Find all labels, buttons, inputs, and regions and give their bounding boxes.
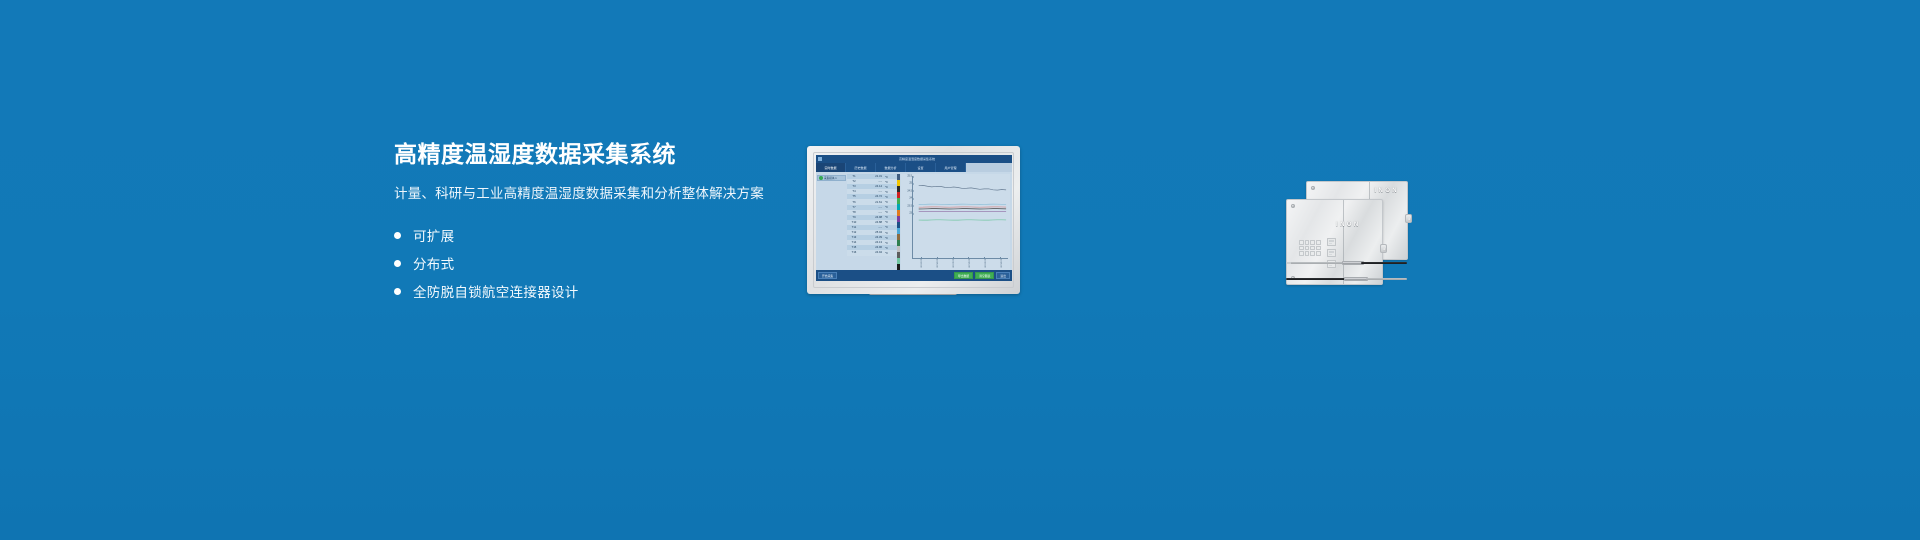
chart-y-tick: 24.5 (902, 189, 912, 192)
tab-realtime-data[interactable]: 实时数据 (816, 163, 846, 172)
probe-shaft (1286, 262, 1344, 264)
cell-unit: ℃ (885, 180, 894, 184)
cell-value: 24.14 (861, 185, 885, 188)
cell-unit: ℃ (885, 246, 894, 250)
cell-channel: T13 (847, 236, 861, 239)
probe-shaft (1366, 278, 1407, 280)
tab-settings[interactable]: 设置 (906, 163, 936, 172)
cell-channel: T16 (847, 251, 861, 254)
page-title: 高精度温湿度数据采集系统 (394, 140, 794, 168)
chart-y-tick: 24 (902, 197, 912, 200)
cell-channel: T7 (847, 206, 861, 209)
list-item: 全防脱自锁航空连接器设计 (394, 278, 794, 304)
cell-unit: ℃ (885, 195, 894, 199)
app-titlebar: 高精度温湿度数据采集系统 (816, 155, 1012, 163)
cell-channel: T5 (847, 195, 861, 198)
table-row: T16 24.94 ℃ (847, 250, 897, 255)
terminal-cell (1299, 240, 1304, 245)
chart-x-tick: 10:15:00 (967, 259, 969, 268)
dot-bullet-icon (394, 260, 401, 267)
panel-pc: 高精度温湿度数据采集系统 实时数据 历史数据 数据分析 设置 用户管理 采集模块… (807, 146, 1020, 294)
cell-unit: ℃ (885, 241, 894, 245)
terminal-cell (1310, 251, 1315, 256)
cell-channel: T12 (847, 231, 861, 234)
list-item: 分布式 (394, 250, 794, 276)
cell-channel: T1 (847, 175, 861, 178)
app-window-title: 高精度温湿度数据采集系统 (824, 157, 1010, 161)
cell-value: 21.31 (861, 175, 885, 178)
dot-bullet-icon (394, 232, 401, 239)
chart-plot-area: 25.52524.52423.52310:00:0010:05:0010:10:… (912, 176, 1008, 259)
terminal-cell (1316, 251, 1321, 256)
terminal-cell (1305, 246, 1310, 251)
chart-y-tick: 25 (902, 182, 912, 185)
cell-unit: ℃ (885, 231, 894, 235)
cell-value: 24.88 (861, 221, 885, 224)
cell-unit: ℃ (885, 215, 894, 219)
banner-subtitle: 计量、科研与工业高精度温湿度数据采集和分析整体解决方案 (394, 185, 794, 203)
exit-button[interactable]: 退出 (996, 272, 1010, 279)
cell-unit: ℃ (885, 251, 894, 255)
temperature-probe-bottom (1286, 277, 1407, 281)
cell-channel: T4 (847, 190, 861, 193)
clear-chart-button[interactable]: 清空图表 (975, 272, 994, 279)
channel-color-legend (897, 174, 900, 270)
chart-y-tick: 23 (902, 212, 912, 215)
module-seam (1343, 200, 1344, 284)
chart-x-tick: 10:20:00 (983, 259, 985, 268)
dot-bullet-icon (394, 288, 401, 295)
banner-copy: 高精度温湿度数据采集系统 计量、科研与工业高精度温湿度数据采集和分析整体解决方案… (394, 140, 794, 306)
cell-value: ---- (861, 226, 885, 229)
tab-user-management[interactable]: 用户管理 (936, 163, 966, 172)
cell-value: 25.04 (861, 231, 885, 234)
app-footer: 开始采集 导出数据 清空图表 退出 (816, 270, 1012, 281)
aviation-connector (1405, 214, 1412, 223)
start-acquisition-button[interactable]: 开始采集 (818, 272, 837, 279)
terminal-cell (1299, 246, 1304, 251)
tree-item-label: 采集模块-1 (824, 176, 837, 180)
cell-channel: T10 (847, 221, 861, 224)
software-screen: 高精度温湿度数据采集系统 实时数据 历史数据 数据分析 设置 用户管理 采集模块… (816, 155, 1012, 281)
acquisition-module-front: INON (1286, 199, 1383, 285)
cell-channel: T3 (847, 185, 861, 188)
cell-channel: T2 (847, 180, 861, 183)
cell-unit: ℃ (885, 190, 894, 194)
aviation-connector (1380, 244, 1387, 253)
feature-label: 全防脱自锁航空连接器设计 (413, 281, 579, 301)
cell-channel: T6 (847, 201, 861, 204)
chart-x-tick: 10:25:00 (999, 259, 1001, 268)
probe-cable (1286, 278, 1348, 280)
channel-table[interactable]: T1 21.31 ℃ T2 ---- ℃ T3 24.14 ℃ (847, 172, 897, 270)
chart-series-line (919, 185, 1006, 190)
chart-series-group (913, 176, 1008, 258)
terminal-block-grid (1299, 240, 1321, 256)
port-icon (1327, 238, 1336, 246)
tree-item-module-1[interactable]: 采集模块-1 (817, 175, 846, 181)
app-window-icon (818, 157, 822, 161)
cell-value: ---- (861, 190, 885, 193)
probe-cable (1361, 262, 1407, 264)
temperature-probe-top (1286, 261, 1407, 265)
port-icon (1327, 249, 1336, 257)
terminal-cell (1310, 246, 1315, 251)
cell-value: 24.94 (861, 251, 885, 254)
tab-history-data[interactable]: 历史数据 (846, 163, 876, 172)
chart-y-tick: 23.5 (902, 204, 912, 207)
terminal-cell (1310, 240, 1315, 245)
chart-x-tick: 10:05:00 (936, 259, 938, 268)
screw-icon (1311, 186, 1315, 190)
cell-value: 24.39 (861, 236, 885, 239)
chart-y-tick: 25.5 (902, 175, 912, 178)
terminal-cell (1316, 246, 1321, 251)
cell-value: ---- (861, 211, 885, 214)
cell-channel: T8 (847, 211, 861, 214)
cell-value: ---- (861, 180, 885, 183)
cell-unit: ℃ (885, 185, 894, 189)
cell-channel: T14 (847, 241, 861, 244)
cell-channel: T9 (847, 216, 861, 219)
tab-bar: 实时数据 历史数据 数据分析 设置 用户管理 (816, 163, 1012, 172)
brand-logo: INON (1374, 188, 1399, 194)
cell-channel: T15 (847, 246, 861, 249)
cell-unit: ℃ (885, 236, 894, 240)
online-status-icon (819, 176, 823, 180)
app-body: 采集模块-1 T1 21.31 ℃ T2 ---- ℃ (816, 172, 1012, 270)
tab-data-analysis[interactable]: 数据分析 (876, 163, 906, 172)
tab-bar-filler (966, 163, 1012, 172)
chart-x-tick: 10:00:00 (920, 259, 922, 268)
cell-channel: T11 (847, 226, 861, 229)
cell-value: 21.61 (861, 201, 885, 204)
feature-label: 分布式 (413, 253, 454, 273)
probe-tip (1286, 262, 1291, 264)
terminal-cell (1299, 251, 1304, 256)
cell-value: 24.96 (861, 246, 885, 249)
cell-unit: ℃ (885, 175, 894, 179)
cell-unit: ℃ (885, 220, 894, 224)
cell-value: 24.98 (861, 216, 885, 219)
cell-unit: ℃ (885, 210, 894, 214)
cell-unit: ℃ (885, 200, 894, 204)
cell-value: 24.72 (861, 195, 885, 198)
probe-body (1344, 277, 1368, 281)
list-item: 可扩展 (394, 222, 794, 248)
terminal-cell (1305, 240, 1310, 245)
cell-value: ---- (861, 206, 885, 209)
brand-logo: INON (1336, 222, 1361, 228)
device-tree: 采集模块-1 (816, 172, 847, 270)
product-banner: 高精度温湿度数据采集系统 计量、科研与工业高精度温湿度数据采集和分析整体解决方案… (0, 0, 1920, 540)
cell-value: 24.13 (861, 241, 885, 244)
cell-unit: ℃ (885, 205, 894, 209)
terminal-cell (1305, 251, 1310, 256)
feature-label: 可扩展 (413, 225, 454, 245)
terminal-cell (1316, 240, 1321, 245)
realtime-chart: 25.52524.52423.52310:00:0010:05:0010:10:… (901, 174, 1010, 270)
screw-icon (1291, 204, 1295, 208)
cell-unit: ℃ (885, 225, 894, 229)
chart-x-tick: 10:10:00 (952, 259, 954, 268)
feature-list: 可扩展 分布式 全防脱自锁航空连接器设计 (394, 222, 794, 304)
export-data-button[interactable]: 导出数据 (954, 272, 973, 279)
